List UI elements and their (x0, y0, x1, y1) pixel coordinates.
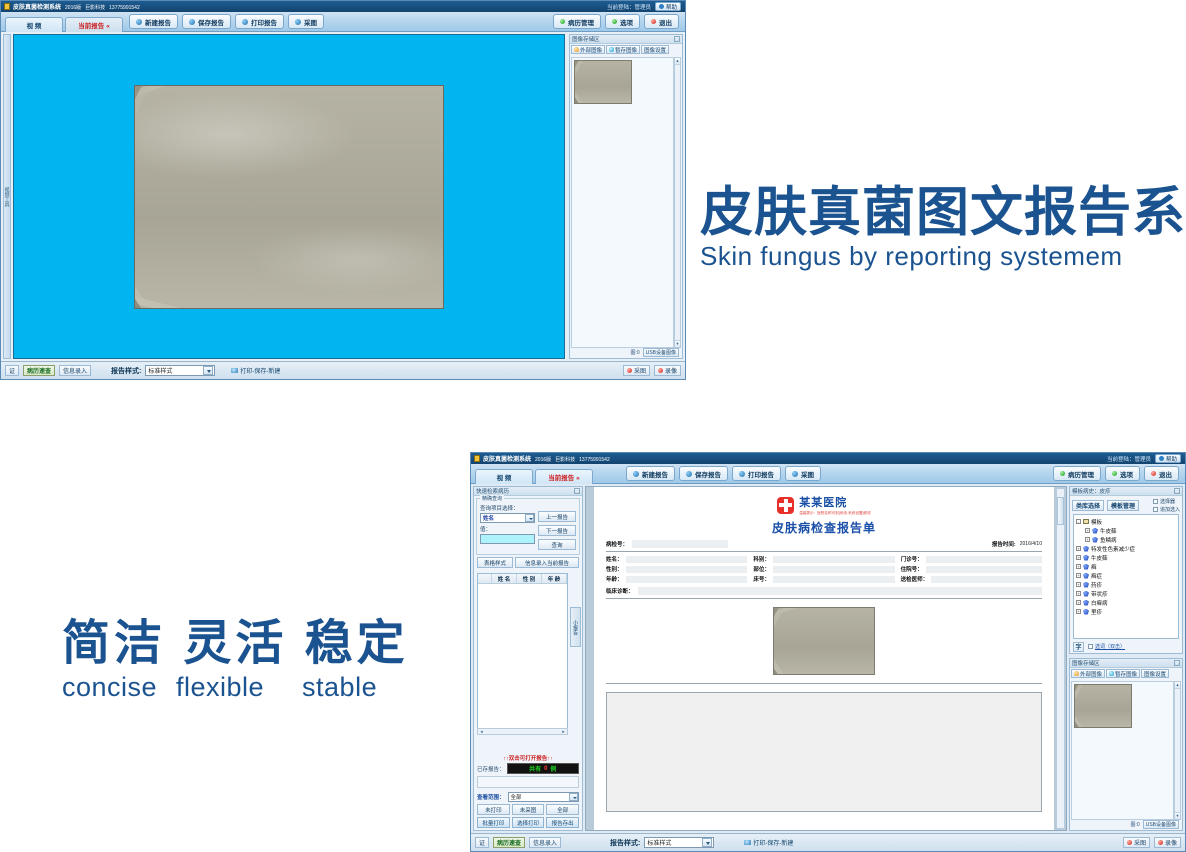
window-body: 视频工具 图像存储区 □ 外部图像 暂存图像 图像设置 (1, 32, 685, 361)
view-range-select[interactable]: 全部 (508, 792, 579, 802)
green-dot-icon (560, 19, 565, 24)
red-dot-icon (1127, 840, 1132, 845)
field-inpatient-no-input[interactable] (926, 566, 1042, 573)
filter-unprinted-button[interactable]: 未打印 (477, 804, 510, 815)
marketing-left: 简洁 灵活 稳定 concise flexible stable (62, 620, 462, 703)
field-gender-input[interactable] (626, 566, 748, 573)
video-preview-area[interactable] (13, 34, 565, 359)
usb-device-button[interactable]: USB设备图像 (1143, 820, 1179, 829)
tree-node-label: 癣 (1091, 563, 1097, 571)
image-storage-header: 图像存储区 □ (1070, 659, 1182, 668)
tree-node[interactable]: +鱼鳞病 (1076, 535, 1178, 544)
field-referring-doctor: 送检医师： (901, 575, 1042, 583)
new-report-button[interactable]: 新建报告 (129, 14, 178, 29)
tab-video[interactable]: 视 频 (5, 17, 63, 32)
chevron-down-icon[interactable] (569, 793, 578, 801)
titlebar: 皮肤真菌检测系统 2016版 巨影科技 13775991542 (471, 453, 1185, 464)
login-info: 当前登陆：管理员 帮助 (607, 1, 681, 12)
tree-node-label: 白癣病 (1091, 599, 1108, 607)
red-dot-icon (1151, 471, 1156, 476)
statusbar-right: 采图 录像 (623, 365, 681, 376)
save-report-button[interactable]: 保存报告 (182, 14, 231, 29)
precise-query-group: 精确查询 查询项目选择： 姓名 值： 上一报告 下一报告 查 (476, 498, 580, 555)
titlebar: 皮肤真菌检测系统 2016版 巨影科技 13775991542 (1, 1, 685, 12)
image-storage-panel: 图像存储区 □ 外部图像 暂存图像 图像设置 (1069, 658, 1183, 831)
template-panel-header: 模板病史：皮疹 □ (1070, 487, 1182, 496)
tree-node[interactable]: +里疹 (1076, 607, 1178, 616)
capture-image-button[interactable]: 采图 (623, 365, 650, 376)
checkbox-icon (1088, 644, 1093, 649)
help-icon (1159, 456, 1164, 461)
gem-icon (1083, 573, 1089, 579)
image-count-label: 图:0 (1131, 821, 1140, 828)
field-bed-no-label: 床号： (753, 575, 770, 583)
template-manage-button[interactable]: 模板管理 (1107, 500, 1139, 511)
tree-expander-icon[interactable]: + (1085, 537, 1090, 542)
template-footer: 字 选词（双击） (1073, 641, 1179, 652)
tree-node-label: 癣症 (1091, 572, 1102, 580)
selector-checkbox-label: 选择器 (1160, 498, 1175, 505)
result-table-hscroll[interactable]: ◄ ► (477, 728, 568, 735)
print-save-new-label: 打印-保存-新建 (240, 366, 280, 375)
ribbon: 当前登陆：管理员 帮助 视 频 当前报告 « 新建报告 保存报告 (471, 464, 1185, 484)
gem-icon (1092, 528, 1098, 534)
record-video-label: 录像 (665, 366, 677, 375)
lock-icon (4, 3, 10, 10)
marketing-left-en-3: stable (302, 672, 377, 702)
save-report-icon (686, 471, 692, 477)
col-gender: 性 别 (517, 574, 542, 583)
statusbar: 证 病历速查 信息录入 报告样式: 标准样式 打印-保存-新建 采图 录像 (471, 833, 1185, 851)
tree-expander-icon[interactable]: + (1085, 528, 1090, 533)
field-site: 部位： (753, 565, 894, 573)
quick-search-button[interactable]: 病历速查 (493, 837, 525, 848)
statusbar: 证 病历速查 信息录入 报告样式: 标准样式 打印-保存-新建 采图 录像 (1, 361, 685, 379)
green-dot-icon (612, 19, 617, 24)
print-report-label: 打印报告 (251, 17, 277, 27)
capture-label: 采图 (304, 17, 317, 27)
temp-image-button[interactable]: 暂存图像 (1106, 669, 1140, 678)
red-dot-icon (658, 368, 663, 373)
image-count-label: 图:0 (631, 349, 640, 356)
video-tool-strip[interactable]: 视频工具 (3, 34, 11, 359)
help-icon (659, 4, 664, 9)
import-to-report-button[interactable]: 信息录入当前报告 (515, 557, 579, 568)
field-department-label: 科别： (753, 555, 770, 563)
external-image-label: 外部图像 (580, 46, 602, 54)
tree-expander-icon[interactable]: + (1076, 555, 1081, 560)
image-settings-label: 图像设置 (644, 46, 666, 54)
gem-icon (1083, 564, 1089, 570)
info-entry-button[interactable]: 信息录入 (59, 365, 91, 376)
image-storage-footer: 图:0 USB设备图像 (571, 348, 681, 357)
temp-image-button[interactable]: 暂存图像 (606, 45, 640, 54)
query-value-label: 值： (480, 525, 535, 533)
diagnosis-label: 临床诊断： (606, 587, 634, 595)
tree-expander-icon[interactable]: - (1076, 519, 1081, 524)
gem-icon (1083, 582, 1089, 588)
image-settings-button[interactable]: 图像设置 (1141, 669, 1169, 678)
ribbon-right-buttons: 病历管理 选项 退出 (1053, 466, 1179, 481)
report-style-select[interactable]: 标准样式 (644, 837, 714, 848)
saved-count-prefix: 共有 (529, 764, 541, 773)
folder-icon (1083, 519, 1089, 524)
tab-current-report-label: 当前报告 « (548, 472, 579, 482)
result-table-header: 姓 名 性 别 年 龄 (478, 574, 567, 584)
hospital-header: 某某医院 温馨提示：医院名称可到[系统-系统设置]修改 (594, 487, 1054, 516)
cert-button[interactable]: 证 (5, 365, 19, 376)
save-report-button[interactable]: 保存报告 (679, 466, 728, 481)
save-report-icon (189, 19, 195, 25)
saved-count-box: 共有 0 例 (507, 763, 579, 774)
tab-strip: 视 频 当前报告 « (475, 464, 595, 484)
tree-node-label: 里疹 (1091, 608, 1102, 616)
saved-count-suffix: 例 (550, 764, 556, 773)
marketing-left-en-1: concise (62, 671, 168, 703)
main-window-video: 皮肤真菌检测系统 2016版 巨影科技 13775991542 当前登陆：管理员… (0, 0, 686, 380)
word-select-label: 选词（双击） (1095, 643, 1125, 650)
report-fungus-photo[interactable] (773, 607, 875, 675)
tab-video[interactable]: 视 频 (475, 469, 533, 484)
image-settings-label: 图像设置 (1144, 670, 1166, 678)
divider (606, 683, 1042, 684)
field-name-label: 姓名： (606, 555, 623, 563)
tree-node[interactable]: +癣症 (1076, 571, 1178, 580)
gem-icon (1083, 591, 1089, 597)
gem-icon (1083, 546, 1089, 552)
capture-image-label: 采图 (634, 366, 646, 375)
options-button[interactable]: 选项 (1105, 466, 1140, 481)
case-management-button[interactable]: 病历管理 (1053, 466, 1101, 481)
record-video-label: 录像 (1165, 838, 1177, 847)
template-tree[interactable]: -模板+牛皮藓+鱼鳞病+特发性色素减少症+牛皮藓+癣+癣症+药疹+带状疹+白癣病… (1073, 514, 1179, 639)
thumbnail-scrollbar[interactable]: ▲ ▼ (674, 57, 681, 348)
ribbon: 当前登陆：管理员 帮助 视 频 当前报告 « 新建报告 保存报告 (1, 12, 685, 32)
hospital-name: 某某医院 (799, 494, 870, 510)
thumbnail-item[interactable] (574, 60, 632, 104)
exit-button[interactable]: 退出 (644, 14, 679, 29)
diagnosis-input[interactable] (638, 587, 1042, 595)
scrollbar-thumb[interactable] (1057, 497, 1064, 525)
new-report-label: 新建报告 (145, 17, 171, 27)
tree-node-label: 药疹 (1091, 581, 1102, 589)
chevron-down-icon[interactable] (203, 366, 213, 375)
selector-checkbox[interactable]: 选择器 (1153, 498, 1180, 505)
marketing-left-cn: 简洁 灵活 稳定 (62, 620, 462, 668)
image-settings-button[interactable]: 图像设置 (641, 45, 669, 54)
image-storage-toolbar: 外部图像 暂存图像 图像设置 (1070, 668, 1182, 679)
report-style-value: 标准样式 (647, 838, 671, 847)
external-image-button[interactable]: 外部图像 (571, 45, 605, 54)
capture-button[interactable]: 采图 (785, 466, 821, 481)
ribbon-buttons: 新建报告 保存报告 打印报告 采图 (626, 466, 821, 481)
field-outpatient-no-input[interactable] (926, 556, 1042, 563)
col-name: 姓 名 (492, 574, 517, 583)
info-entry-button[interactable]: 信息录入 (529, 837, 561, 848)
exit-button[interactable]: 退出 (1144, 466, 1179, 481)
image-storage-title: 图像存储区 (572, 35, 600, 43)
field-site-label: 部位： (753, 565, 770, 573)
next-report-button[interactable]: 下一报告 (538, 525, 576, 536)
scroll-down-icon[interactable]: ▼ (1175, 812, 1180, 819)
gem-icon (1083, 609, 1089, 615)
field-referring-doctor-label: 送检医师： (901, 575, 929, 583)
case-no-label: 病检号： (606, 540, 628, 548)
print-report-icon (242, 19, 248, 25)
prev-report-button[interactable]: 上一报告 (538, 511, 576, 522)
export-report-button[interactable]: 报告存出 (546, 817, 579, 828)
tree-expander-icon[interactable]: + (1076, 609, 1081, 614)
saved-report-label: 已存报告： (477, 765, 505, 773)
new-report-label: 新建报告 (642, 469, 668, 479)
image-storage-title: 图像存储区 (1072, 659, 1100, 667)
capture-label: 采图 (801, 469, 814, 479)
case-management-button[interactable]: 病历管理 (553, 14, 601, 29)
tab-current-report[interactable]: 当前报告 « (65, 17, 123, 32)
temp-image-icon (609, 47, 614, 52)
field-outpatient-no: 门诊号： (901, 555, 1042, 563)
capture-image-label: 采图 (1134, 838, 1146, 847)
external-image-icon (574, 47, 579, 52)
help-label: 帮助 (1166, 455, 1177, 463)
scroll-up-icon[interactable]: ▲ (1175, 682, 1180, 689)
tab-current-report-label: 当前报告 « (78, 20, 109, 30)
tree-node[interactable]: +带状疹 (1076, 589, 1178, 598)
options-label: 选项 (620, 17, 633, 27)
marketing-right: 皮肤真菌图文报告系统 Skin fungus by reporting syst… (700, 186, 1180, 272)
login-label: 当前登陆：管理员 (1107, 455, 1151, 463)
tree-node[interactable]: +白癣病 (1076, 598, 1178, 607)
ribbon-right-buttons: 病历管理 选项 退出 (553, 14, 679, 29)
append-checkbox-label: 追加选入 (1160, 506, 1180, 513)
capture-icon (792, 471, 798, 477)
exit-label: 退出 (659, 17, 672, 27)
quick-search-panel: 快速检索病历 □ 精确查询 查询项目选择： 姓名 值： (473, 486, 583, 831)
app-company: 巨影科技 (85, 4, 105, 11)
batch-print-button[interactable]: 批量打印 (477, 817, 510, 828)
report-style-label: 报告样式: (610, 838, 640, 848)
field-department: 科别： (753, 555, 894, 563)
filter-all-button[interactable]: 全部 (546, 804, 579, 815)
divider (606, 598, 1042, 599)
append-checkbox[interactable]: 追加选入 (1153, 506, 1180, 513)
view-range-value: 全部 (511, 793, 522, 801)
tree-expander-icon[interactable]: + (1076, 582, 1081, 587)
template-panel: 模板病史：皮疹 □ 类库选择 模板管理 选择器 追加选入 (1069, 486, 1183, 654)
help-button[interactable]: 帮助 (655, 2, 681, 11)
tree-node[interactable]: +特发性色素减少症 (1076, 544, 1178, 553)
field-gender-label: 性别： (606, 565, 623, 573)
microscope-fungus-image (134, 85, 444, 309)
report-scrollbar[interactable] (1056, 488, 1065, 829)
exit-label: 退出 (1159, 469, 1172, 479)
report-style-label: 报告样式: (111, 366, 141, 376)
case-management-label: 病历管理 (1068, 469, 1094, 479)
field-bed-no-input[interactable] (773, 576, 895, 583)
external-image-icon (1074, 671, 1079, 676)
query-field-value: 姓名 (483, 514, 494, 522)
field-name-input[interactable] (626, 556, 748, 563)
field-outpatient-no-label: 门诊号： (901, 555, 923, 563)
print-save-new-label: 打印-保存-新建 (753, 838, 793, 847)
image-storage-footer: 图:0 USB设备图像 (1071, 820, 1181, 829)
query-field-select[interactable]: 姓名 (480, 513, 535, 523)
diagnosis-row: 临床诊断： (594, 587, 1054, 595)
field-name: 姓名： (606, 555, 747, 563)
usb-device-button[interactable]: USB设备图像 (643, 348, 679, 357)
app-phone: 13775991542 (109, 5, 140, 11)
template-panel-title: 模板病史：皮疹 (1072, 487, 1111, 495)
checkbox-icon (1153, 507, 1158, 512)
select-print-button[interactable]: 选择打印 (512, 817, 545, 828)
report-paper: 某某医院 温馨提示：医院名称可到[系统-系统设置]修改 皮肤病检查报告单 病检号… (594, 487, 1054, 830)
field-site-input[interactable] (773, 566, 895, 573)
case-no-field[interactable] (632, 540, 728, 548)
case-management-label: 病历管理 (568, 17, 594, 27)
new-report-button[interactable]: 新建报告 (626, 466, 675, 481)
filter-uncaptured-button[interactable]: 未采图 (512, 804, 545, 815)
tree-expander-icon[interactable]: + (1076, 564, 1081, 569)
thumbnail-list[interactable] (1071, 681, 1174, 820)
tree-node[interactable]: -模板 (1076, 517, 1178, 526)
tree-expander-icon[interactable]: + (1076, 600, 1081, 605)
lock-icon (474, 455, 480, 462)
table-style-button[interactable]: 表格样式 (477, 557, 513, 568)
collapse-icon[interactable]: □ (1174, 488, 1180, 494)
app-company: 巨影科技 (555, 456, 575, 463)
print-report-button[interactable]: 打印报告 (235, 14, 284, 29)
tree-node-label: 鱼鳞病 (1100, 536, 1117, 544)
tree-node-label: 牛皮藓 (1100, 527, 1117, 535)
report-preview-area[interactable]: 某某医院 温馨提示：医院名称可到[系统-系统设置]修改 皮肤病检查报告单 病检号… (585, 486, 1067, 831)
window-body: 快速检索病历 □ 精确查询 查询项目选择： 姓名 值： (471, 484, 1185, 833)
query-value-input[interactable] (480, 534, 535, 544)
cert-button[interactable]: 证 (475, 837, 489, 848)
col-index (478, 574, 492, 583)
report-style-select[interactable]: 标准样式 (145, 365, 215, 376)
field-age-label: 年龄： (606, 575, 623, 583)
word-select-checkbox[interactable]: 选词（双击） (1088, 643, 1125, 650)
print-report-icon (739, 471, 745, 477)
app-title: 皮肤真菌检测系统 (13, 2, 61, 11)
tab-current-report[interactable]: 当前报告 « (535, 469, 593, 484)
tree-node-label: 模板 (1091, 518, 1102, 526)
tree-node[interactable]: +药疹 (1076, 580, 1178, 589)
capture-button[interactable]: 采图 (288, 14, 324, 29)
login-label: 当前登陆：管理员 (607, 3, 651, 11)
scroll-left-icon[interactable]: ◄ (478, 729, 485, 734)
patient-fields-grid: 姓名： 科别： 门诊号： 性别： (594, 552, 1054, 583)
result-table[interactable]: 姓 名 性 别 年 龄 (477, 573, 568, 730)
record-video-button[interactable]: 录像 (654, 365, 681, 376)
save-report-label: 保存报告 (695, 469, 721, 479)
precise-query-label: 精确查询 (480, 495, 504, 502)
library-select-button[interactable]: 类库选择 (1072, 500, 1104, 511)
marketing-left-en: concise flexible stable (62, 671, 462, 703)
tree-expander-icon[interactable]: + (1076, 591, 1081, 596)
tree-node[interactable]: +癣 (1076, 562, 1178, 571)
print-report-button[interactable]: 打印报告 (732, 466, 781, 481)
field-age-input[interactable] (626, 576, 748, 583)
small-report-tab[interactable]: 小报告 (570, 607, 581, 647)
scroll-right-icon[interactable]: ► (560, 729, 567, 734)
gem-icon (1083, 600, 1089, 606)
options-button[interactable]: 选项 (605, 14, 640, 29)
temp-image-label: 暂存图像 (615, 46, 637, 54)
template-checkboxes: 选择器 追加选入 (1153, 498, 1180, 513)
save-report-label: 保存报告 (198, 17, 224, 27)
tree-node[interactable]: +牛皮藓 (1076, 553, 1178, 562)
print-save-new-button[interactable]: 打印-保存-新建 (231, 366, 280, 375)
hospital-tip: 温馨提示：医院名称可到[系统-系统设置]修改 (799, 511, 870, 516)
print-save-new-button[interactable]: 打印-保存-新建 (744, 838, 793, 847)
double-click-hint: ↑↑双击可打开报告↑↑ (477, 754, 579, 762)
checkbox-icon (1153, 499, 1158, 504)
app-title: 皮肤真菌检测系统 (483, 454, 531, 463)
tree-node[interactable]: +牛皮藓 (1076, 526, 1178, 535)
green-dot-icon (1060, 471, 1065, 476)
capture-icon (295, 19, 301, 25)
scroll-down-icon[interactable]: ▼ (675, 340, 680, 347)
query-button[interactable]: 查询 (538, 539, 576, 550)
tree-node-label: 带状疹 (1091, 590, 1108, 598)
tree-expander-icon[interactable]: + (1076, 573, 1081, 578)
tree-node-label: 特发性色素减少症 (1091, 545, 1135, 553)
tree-expander-icon[interactable]: + (1076, 546, 1081, 551)
collapse-icon[interactable]: □ (674, 36, 680, 42)
image-storage-header: 图像存储区 □ (570, 35, 682, 44)
field-inpatient-no-label: 住院号： (901, 565, 923, 573)
gem-icon (1092, 537, 1098, 543)
font-button[interactable]: 字 (1073, 642, 1084, 652)
template-toolbar: 类库选择 模板管理 选择器 追加选入 (1070, 496, 1182, 515)
external-image-button[interactable]: 外部图像 (1071, 669, 1105, 678)
gem-icon (1083, 555, 1089, 561)
chevron-down-icon[interactable] (525, 514, 534, 522)
main-window-report: 皮肤真菌检测系统 2016版 巨影科技 13775991542 当前登陆：管理员… (470, 452, 1186, 852)
record-video-button[interactable]: 录像 (1154, 837, 1181, 848)
scroll-up-icon[interactable]: ▲ (675, 58, 680, 65)
video-tool-label: 视频工具 (4, 187, 11, 207)
tab-strip: 视 频 当前报告 « (5, 12, 125, 32)
quick-search-button[interactable]: 病历速查 (23, 365, 55, 376)
field-department-input[interactable] (773, 556, 895, 563)
image-storage-panel: 图像存储区 □ 外部图像 暂存图像 图像设置 ▲ (569, 34, 683, 359)
help-button[interactable]: 帮助 (1155, 454, 1181, 463)
app-version: 2016版 (65, 4, 81, 11)
thumbnail-item[interactable] (1074, 684, 1132, 728)
view-range-label: 查看范围： (477, 793, 505, 801)
report-title: 皮肤病检查报告单 (594, 519, 1054, 536)
image-storage-toolbar: 外部图像 暂存图像 图像设置 (570, 44, 682, 55)
thumbnail-scrollbar[interactable]: ▲ ▼ (1174, 681, 1181, 820)
tree-node-label: 牛皮藓 (1091, 554, 1108, 562)
field-referring-doctor-input[interactable] (931, 576, 1042, 583)
case-no-row: 病检号： 报告时间: 2016/4/10 (594, 540, 1054, 548)
report-findings-box[interactable] (606, 692, 1042, 812)
collapse-icon[interactable]: □ (1174, 660, 1180, 666)
red-dot-icon (627, 368, 632, 373)
query-field-label: 查询项目选择： (480, 504, 535, 512)
thumbnail-list[interactable] (571, 57, 674, 348)
red-dot-icon (1158, 840, 1163, 845)
collapse-icon[interactable]: □ (574, 488, 580, 494)
statusbar-right: 采图 录像 (1123, 837, 1181, 848)
capture-image-button[interactable]: 采图 (1123, 837, 1150, 848)
app-phone: 13775991542 (579, 457, 610, 463)
chevron-down-icon[interactable] (702, 838, 712, 847)
tab-video-label: 视 频 (497, 472, 512, 482)
